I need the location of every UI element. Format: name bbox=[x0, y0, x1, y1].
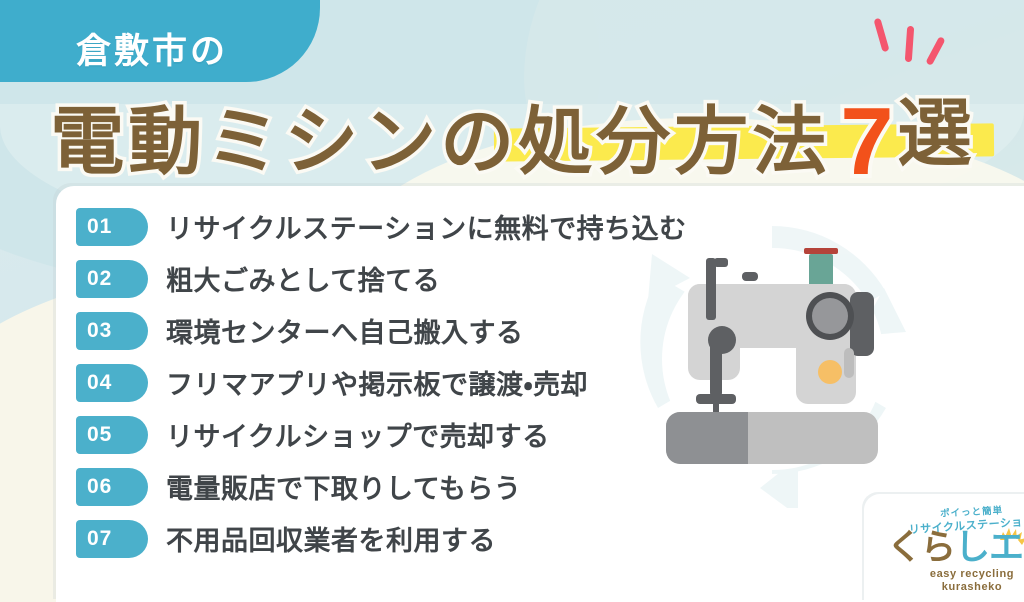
list-item[interactable]: 07 不用品回収業者を利用する bbox=[76, 514, 716, 563]
list-item-label: フリマアプリや掲示板で譲渡・売却 bbox=[166, 363, 588, 402]
method-list: 01 リサイクルステーションに無料で持ち込む 02 粗大ごみとして捨てる 03 … bbox=[76, 202, 716, 566]
sparkle-icon bbox=[872, 12, 982, 82]
list-item-number: 01 bbox=[76, 208, 148, 246]
headline-suffix: 選 bbox=[898, 74, 974, 181]
list-item-number: 02 bbox=[76, 260, 148, 298]
list-item[interactable]: 05 リサイクルショップで売却する bbox=[76, 410, 716, 459]
list-item-number: 03 bbox=[76, 312, 148, 350]
list-item-number: 04 bbox=[76, 364, 148, 402]
list-item-number: 05 bbox=[76, 416, 148, 454]
list-item-number: 07 bbox=[76, 520, 148, 558]
city-banner: 倉敷市の bbox=[0, 0, 320, 82]
headline-count: 7 bbox=[840, 96, 893, 187]
headline-main-text: 電動ミシンの処分方法 bbox=[50, 103, 830, 181]
headline-block: 電動ミシンの処分方法 7 選 bbox=[0, 74, 1024, 184]
list-item-label: リサイクルステーションに無料で持ち込む bbox=[166, 207, 687, 246]
page-title: 電動ミシンの処分方法 7 選 bbox=[0, 74, 1024, 181]
logo-wordmark: くらしエコ bbox=[882, 530, 1024, 565]
logo-subtitle-en: easy recycling bbox=[882, 568, 1024, 580]
list-item[interactable]: 06 電量販店で下取りしてもらう bbox=[76, 462, 716, 511]
list-item[interactable]: 03 環境センターへ自己搬入する bbox=[76, 306, 716, 355]
list-item-label: 不用品回収業者を利用する bbox=[166, 519, 496, 558]
list-item-number: 06 bbox=[76, 468, 148, 506]
logo-word-brown: くら bbox=[887, 528, 955, 567]
list-item-label: 粗大ごみとして捨てる bbox=[166, 259, 440, 298]
logo-word-blue: しエコ bbox=[955, 528, 1024, 567]
list-item[interactable]: 04 フリマアプリや掲示板で譲渡・売却 bbox=[76, 358, 716, 407]
list-item-label: 電量販店で下取りしてもらう bbox=[166, 467, 521, 506]
list-item-label: リサイクルショップで売却する bbox=[166, 415, 550, 454]
list-item[interactable]: 01 リサイクルステーションに無料で持ち込む bbox=[76, 202, 716, 251]
logo-subtitle-romaji: kurasheko bbox=[882, 581, 1024, 593]
list-item-label: 環境センターへ自己搬入する bbox=[166, 311, 524, 350]
infographic-canvas: 倉敷市の 電動ミシンの処分方法 7 選 bbox=[0, 0, 1024, 602]
city-label: 倉敷市の bbox=[52, 23, 228, 74]
brand-logo[interactable]: ポイっと簡単 リサイクルステーション くらしエコ easy recycling … bbox=[864, 494, 1024, 602]
content-card: 01 リサイクルステーションに無料で持ち込む 02 粗大ごみとして捨てる 03 … bbox=[56, 186, 1024, 602]
list-item[interactable]: 02 粗大ごみとして捨てる bbox=[76, 254, 716, 303]
